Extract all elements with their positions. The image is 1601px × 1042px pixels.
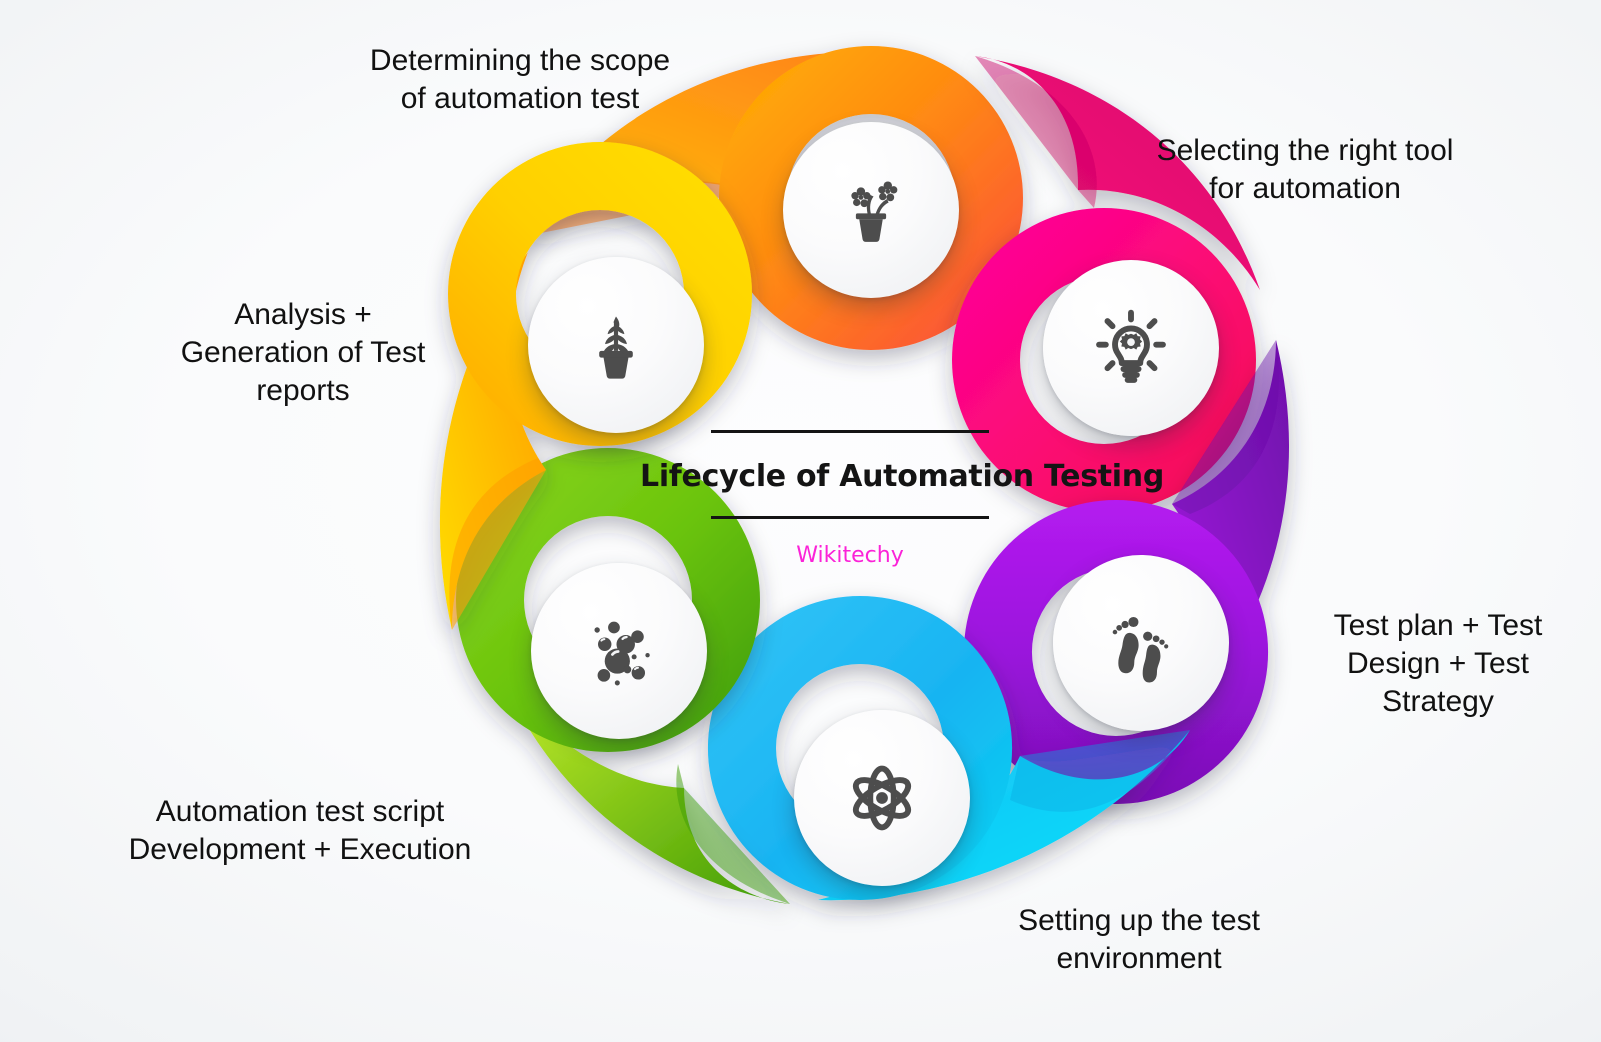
atom-icon [840,756,924,840]
bubbles-icon [577,609,661,693]
step-icon-script[interactable] [531,563,707,739]
step-icon-scope[interactable] [783,122,959,298]
step-label-environment: Setting up the test environment [984,902,1294,978]
step-label-analysis: Analysis + Generation of Test reports [148,296,458,409]
step-icon-analysis[interactable] [528,257,704,433]
title-rule-top [711,430,989,433]
step-label-tool: Selecting the right tool for automation [1130,132,1480,208]
flower-pot-icon [829,168,913,252]
step-icon-environment[interactable] [794,710,970,886]
infographic-canvas: Lifecycle of Automation Testing Wikitech… [0,0,1601,1042]
page-title: Lifecycle of Automation Testing [640,459,1060,494]
footprints-icon [1099,601,1183,685]
step-label-scope: Determining the scope of automation test [345,42,695,118]
potted-plant-icon [574,303,658,387]
lightbulb-gear-icon [1089,306,1173,390]
step-icon-tool[interactable] [1043,260,1219,436]
center-title-block: Lifecycle of Automation Testing Wikitech… [640,430,1060,568]
step-label-script: Automation test script Development + Exe… [100,793,500,869]
step-label-plan: Test plan + Test Design + Test Strategy [1288,607,1588,720]
step-icon-plan[interactable] [1053,555,1229,731]
title-rule-bottom [711,516,989,519]
brand-watermark: Wikitechy [640,543,1060,568]
